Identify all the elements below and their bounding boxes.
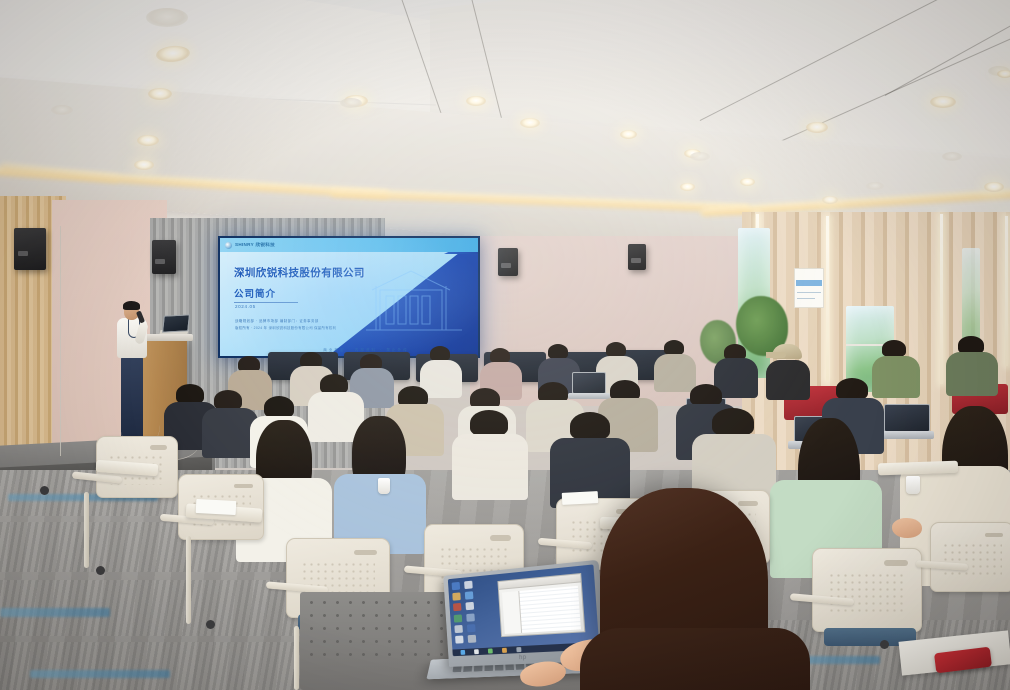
downlight [620, 130, 637, 139]
taskbar-start-icon[interactable] [460, 650, 465, 655]
slide-fine-print-1: 战略规划部 · 品牌市场部 编制部门：证券事务部 [235, 318, 319, 323]
foreground-person-shoulder [580, 628, 810, 690]
downlight-off [942, 152, 962, 161]
downlight [520, 118, 540, 128]
wall-speaker-left [14, 228, 46, 270]
attendee-head [664, 340, 684, 355]
downlight [984, 182, 1004, 192]
slide-header-brand: SHINRY 欣锐科技 [235, 242, 275, 248]
downlight [148, 88, 172, 100]
taskbar-icon[interactable] [488, 649, 493, 654]
downlight [740, 178, 755, 186]
desktop-icon[interactable] [452, 582, 460, 590]
paper-cup [906, 476, 920, 494]
carpet-blue-streak [0, 608, 110, 617]
wall-light-strip [826, 216, 829, 381]
slide-date: 2024.05 [235, 304, 256, 309]
downlight-off [51, 105, 73, 115]
wall-cable [60, 226, 70, 456]
desktop-icon[interactable] [465, 602, 474, 610]
attendee-head [712, 408, 754, 436]
desktop-icon[interactable] [452, 593, 461, 601]
downlight-off [146, 8, 188, 27]
desktop-icon[interactable] [455, 635, 464, 643]
attendee-head [320, 374, 348, 394]
attendee-body [766, 360, 810, 400]
attendee-head [430, 346, 450, 361]
company-logo-icon [225, 242, 232, 249]
downlight [997, 70, 1010, 78]
desktop-icon[interactable] [467, 624, 476, 632]
desktop-icon[interactable] [468, 635, 477, 643]
downlight-off [690, 152, 710, 161]
attendee-body [946, 352, 998, 396]
attendee-head [606, 342, 626, 357]
slide-divider [234, 302, 298, 303]
attendee-head [264, 396, 294, 418]
downlight-off [866, 182, 884, 190]
slide-subtitle: 公司简介 [234, 286, 276, 300]
wall-light-strip [1005, 216, 1008, 366]
desktop-icon[interactable] [454, 625, 463, 633]
wall-light-strip [940, 214, 943, 384]
attendee-head [490, 348, 510, 363]
attendee-head [836, 378, 868, 400]
attendee-head [176, 384, 204, 404]
ceiling [0, 0, 1010, 232]
spreadsheet-window[interactable] [497, 573, 585, 637]
downlight [680, 183, 695, 191]
attendee-body [872, 356, 920, 398]
podium-laptop-screen [162, 314, 190, 332]
projection-screen: SHINRY 欣锐科技 深圳欣锐科技股份有限公司 公司简介 2024.05 战略… [218, 236, 480, 358]
wall-poster [794, 268, 824, 308]
cap-brim [766, 352, 786, 358]
downlight [137, 135, 159, 146]
attendee-hand [892, 518, 922, 538]
attendee-head [470, 410, 508, 436]
taskbar-icon[interactable] [502, 648, 507, 653]
attendee-head [214, 390, 242, 410]
presenter-hair [123, 301, 140, 310]
desktop-icon[interactable] [465, 591, 474, 599]
downlight-off [340, 98, 362, 108]
downlight [930, 96, 956, 108]
desktop-icon[interactable] [454, 614, 463, 622]
paper-sheet [562, 491, 599, 505]
carpet-blue-streak [30, 670, 170, 678]
slide-title: 深圳欣锐科技股份有限公司 [234, 265, 365, 280]
paper-sheet [196, 499, 237, 515]
downlight [822, 196, 838, 204]
attendee-head [882, 340, 906, 357]
desktop-icon[interactable] [453, 603, 462, 611]
attendee-head [548, 344, 568, 359]
downlight [134, 160, 154, 170]
paper-cup [378, 478, 390, 494]
wall-speaker-far-right [628, 244, 646, 270]
desktop-icon[interactable] [464, 581, 473, 589]
attendee-head [570, 412, 610, 440]
taskbar-icon[interactable] [516, 647, 521, 652]
slide-fine-print-2: 版权所有 · 2024 年 深圳欣锐科技股份有限公司 保留所有权利 [235, 325, 336, 330]
attendee-head [690, 384, 722, 406]
poster-line [797, 298, 815, 299]
desktop-icons[interactable] [450, 578, 481, 645]
downlight [466, 96, 486, 106]
attendee-body [654, 354, 696, 392]
window-sidebar[interactable] [502, 591, 522, 634]
poster-highlight [796, 280, 822, 286]
wall-speaker-stage-left [152, 240, 176, 274]
slide-building-illustration [362, 266, 470, 340]
downlight [806, 122, 828, 133]
taskbar-icon[interactable] [474, 649, 479, 654]
conference-room-photo: SHINRY 欣锐科技 深圳欣锐科技股份有限公司 公司简介 2024.05 战略… [0, 0, 1010, 690]
attendee-body [452, 434, 528, 500]
desktop-icon[interactable] [466, 613, 475, 621]
slide-header-bar: SHINRY 欣锐科技 [220, 238, 478, 252]
poster-line [797, 292, 821, 293]
wall-speaker-right [498, 248, 518, 276]
presentation-slide: SHINRY 欣锐科技 深圳欣锐科技股份有限公司 公司简介 2024.05 战略… [220, 238, 478, 356]
